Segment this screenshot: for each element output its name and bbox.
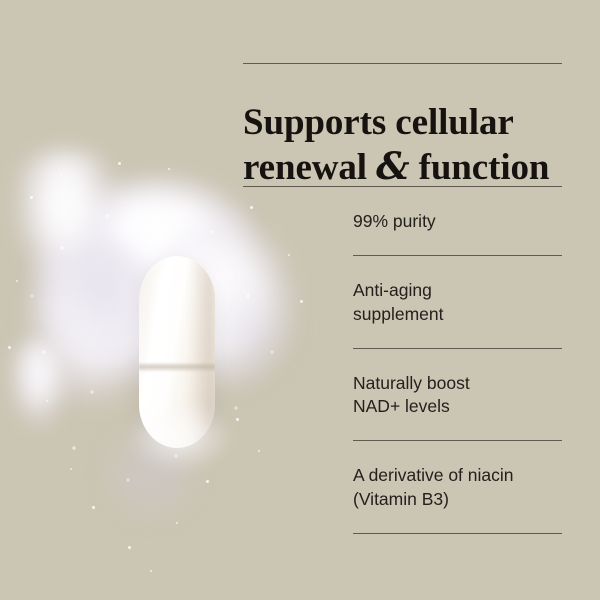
headline-line-2-after: function xyxy=(409,147,549,188)
powder-speck xyxy=(60,174,62,176)
headline-divider-top xyxy=(243,63,562,64)
feature-line: Naturally boost xyxy=(353,372,562,395)
powder-speck xyxy=(30,196,33,199)
powder-speck xyxy=(118,162,121,165)
feature-item-anti-aging: Anti-aging supplement xyxy=(243,256,562,348)
feature-divider xyxy=(243,186,562,187)
powder-speck xyxy=(128,546,131,549)
headline-line-1: Supports cellular xyxy=(243,102,514,143)
powder-speck xyxy=(46,400,48,402)
text-column: Supports cellular renewal & function 99%… xyxy=(243,0,562,600)
feature-line: Anti-aging xyxy=(353,279,562,302)
product-feature-poster: Supports cellular renewal & function 99%… xyxy=(0,0,600,600)
feature-line: supplement xyxy=(353,303,562,326)
powder-speck xyxy=(8,346,11,349)
feature-divider xyxy=(353,440,562,441)
powder-speck xyxy=(92,506,95,509)
feature-line: A derivative of niacin xyxy=(353,464,562,487)
feature-divider-bottom xyxy=(353,533,562,534)
powder-veil-over-capsule xyxy=(128,405,232,475)
ampersand-glyph: & xyxy=(376,144,409,188)
headline-line-2: renewal & function xyxy=(243,145,562,190)
powder-speck xyxy=(70,468,72,470)
feature-line: NAD+ levels xyxy=(353,395,562,418)
feature-line: 99% purity xyxy=(353,210,562,233)
feature-line: (Vitamin B3) xyxy=(353,488,562,511)
capsule-seam-line xyxy=(139,362,215,372)
feature-item-purity: 99% purity xyxy=(243,187,562,255)
powder-speck xyxy=(168,168,170,170)
powder-speck xyxy=(16,280,18,282)
feature-divider xyxy=(353,348,562,349)
feature-divider xyxy=(353,255,562,256)
powder-speck xyxy=(236,418,239,421)
powder-speck xyxy=(176,522,178,524)
feature-item-nad-levels: Naturally boost NAD+ levels xyxy=(243,349,562,441)
headline-line-2-before: renewal xyxy=(243,147,376,188)
feature-list: 99% purity Anti-aging supplement Natural… xyxy=(243,186,562,534)
powder-speck xyxy=(150,570,152,572)
page-title: Supports cellular renewal & function xyxy=(243,101,562,190)
feature-item-niacin-derivative: A derivative of niacin (Vitamin B3) xyxy=(243,441,562,533)
powder-speck xyxy=(206,480,209,483)
